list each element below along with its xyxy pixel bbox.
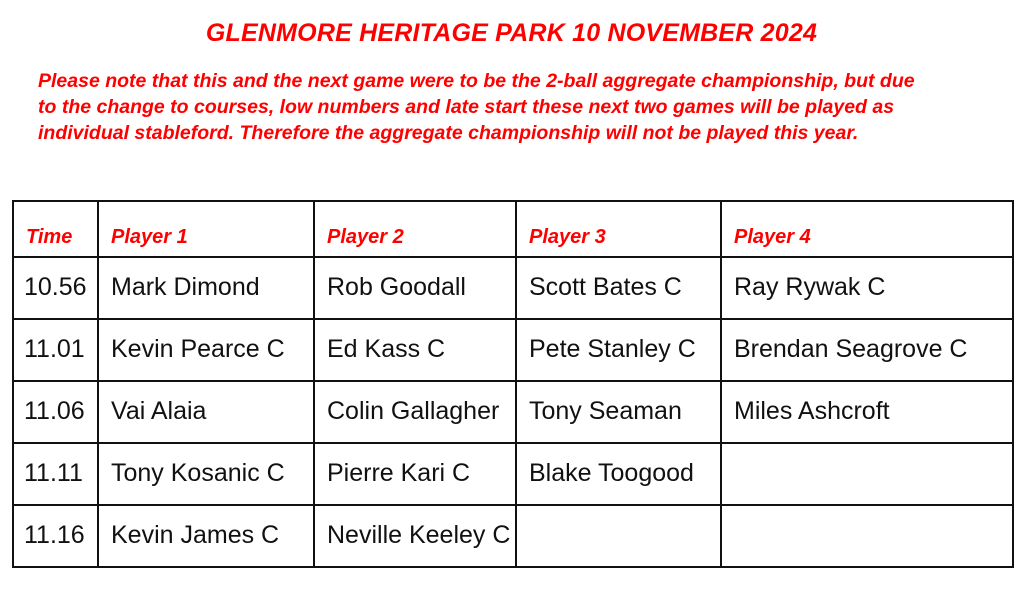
- cell-time: 11.16: [13, 505, 98, 567]
- cell-player1: Kevin James C: [98, 505, 314, 567]
- page-title: GLENMORE HERITAGE PARK 10 NOVEMBER 2024: [0, 18, 1023, 48]
- cell-player4: Miles Ashcroft: [721, 381, 1013, 443]
- cell-time: 11.06: [13, 381, 98, 443]
- cell-player4: [721, 443, 1013, 505]
- table-row: 11.11 Tony Kosanic C Pierre Kari C Blake…: [13, 443, 1013, 505]
- cell-player4: [721, 505, 1013, 567]
- cell-player1: Vai Alaia: [98, 381, 314, 443]
- cell-player3: [516, 505, 721, 567]
- column-header-player2: Player 2: [314, 201, 516, 257]
- table-row: 10.56 Mark Dimond Rob Goodall Scott Bate…: [13, 257, 1013, 319]
- cell-player3: Tony Seaman: [516, 381, 721, 443]
- column-header-time: Time: [13, 201, 98, 257]
- cell-player3: Blake Toogood: [516, 443, 721, 505]
- tee-times-sheet: GLENMORE HERITAGE PARK 10 NOVEMBER 2024 …: [0, 0, 1023, 593]
- column-header-player1: Player 1: [98, 201, 314, 257]
- column-header-player3: Player 3: [516, 201, 721, 257]
- cell-player1: Mark Dimond: [98, 257, 314, 319]
- cell-player2: Ed Kass C: [314, 319, 516, 381]
- cell-time: 11.01: [13, 319, 98, 381]
- cell-player1: Kevin Pearce C: [98, 319, 314, 381]
- notice-line-2: to the change to courses, low numbers an…: [38, 94, 938, 120]
- cell-time: 10.56: [13, 257, 98, 319]
- cell-player3: Pete Stanley C: [516, 319, 721, 381]
- cell-player3: Scott Bates C: [516, 257, 721, 319]
- notice-line-1: Please note that this and the next game …: [38, 68, 938, 94]
- cell-player2: Pierre Kari C: [314, 443, 516, 505]
- cell-player2: Rob Goodall: [314, 257, 516, 319]
- notice-line-3: individual stableford. Therefore the agg…: [38, 120, 938, 146]
- cell-time: 11.11: [13, 443, 98, 505]
- table-header-row: Time Player 1 Player 2 Player 3 Player 4: [13, 201, 1013, 257]
- cell-player4: Ray Rywak C: [721, 257, 1013, 319]
- cell-player4: Brendan Seagrove C: [721, 319, 1013, 381]
- column-header-player4: Player 4: [721, 201, 1013, 257]
- cell-player2: Neville Keeley C: [314, 505, 516, 567]
- table-row: 11.06 Vai Alaia Colin Gallagher Tony Sea…: [13, 381, 1013, 443]
- table-row: 11.01 Kevin Pearce C Ed Kass C Pete Stan…: [13, 319, 1013, 381]
- notice-paragraph: Please note that this and the next game …: [38, 68, 938, 146]
- cell-player1: Tony Kosanic C: [98, 443, 314, 505]
- table-row: 11.16 Kevin James C Neville Keeley C: [13, 505, 1013, 567]
- tee-times-table: Time Player 1 Player 2 Player 3 Player 4…: [12, 200, 1014, 568]
- cell-player2: Colin Gallagher: [314, 381, 516, 443]
